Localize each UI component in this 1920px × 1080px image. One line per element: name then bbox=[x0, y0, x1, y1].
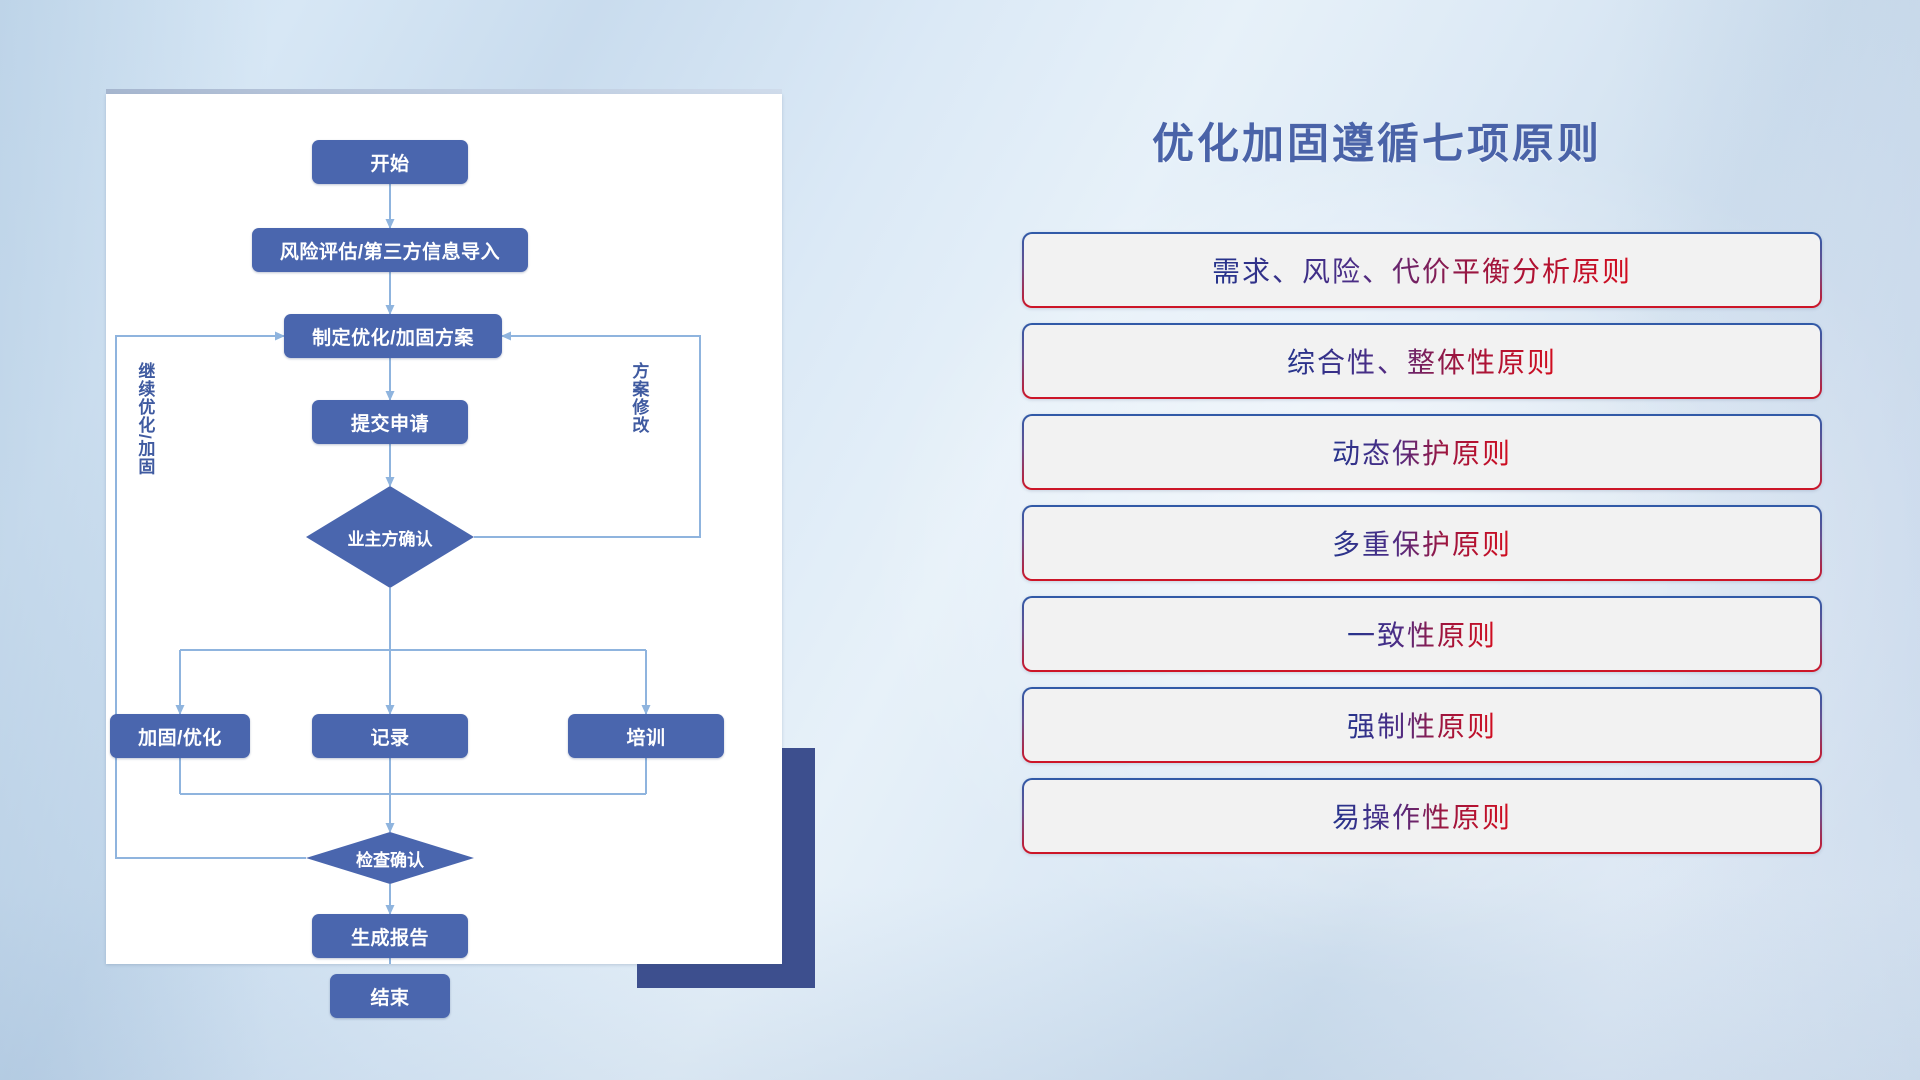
principles-list: 需求、风险、代价平衡分析原则 综合性、整体性原则 动态保护原则 多重保护原则 一… bbox=[1022, 232, 1822, 869]
principle-label: 需求、风险、代价平衡分析原则 bbox=[1212, 250, 1632, 290]
principle-card-inner: 多重保护原则 bbox=[1024, 507, 1820, 579]
flow-node-owner-confirm-label: 业主方确认 bbox=[348, 525, 433, 550]
principle-card-1[interactable]: 需求、风险、代价平衡分析原则 bbox=[1022, 232, 1822, 308]
principle-label: 强制性原则 bbox=[1347, 705, 1497, 745]
principle-card-7[interactable]: 易操作性原则 bbox=[1022, 778, 1822, 854]
flowchart-panel: 开始 风险评估/第三方信息导入 制定优化/加固方案 提交申请 业主方确认 加固/… bbox=[106, 94, 782, 964]
principle-card-inner: 动态保护原则 bbox=[1024, 416, 1820, 488]
principle-card-6[interactable]: 强制性原则 bbox=[1022, 687, 1822, 763]
flow-node-check-confirm[interactable]: 检查确认 bbox=[306, 832, 474, 884]
principle-card-5[interactable]: 一致性原则 bbox=[1022, 596, 1822, 672]
flow-node-check-confirm-label: 检查确认 bbox=[356, 846, 424, 871]
principle-label: 易操作性原则 bbox=[1332, 796, 1512, 836]
principle-card-4[interactable]: 多重保护原则 bbox=[1022, 505, 1822, 581]
principle-card-inner: 需求、风险、代价平衡分析原则 bbox=[1024, 234, 1820, 306]
page-title: 优化加固遵循七项原则 bbox=[1152, 110, 1602, 171]
principle-label: 一致性原则 bbox=[1347, 614, 1497, 654]
principle-card-inner: 一致性原则 bbox=[1024, 598, 1820, 670]
flow-node-risk-assessment[interactable]: 风险评估/第三方信息导入 bbox=[252, 228, 528, 272]
principle-card-2[interactable]: 综合性、整体性原则 bbox=[1022, 323, 1822, 399]
principle-card-inner: 强制性原则 bbox=[1024, 689, 1820, 761]
principle-card-inner: 综合性、整体性原则 bbox=[1024, 325, 1820, 397]
principle-label: 多重保护原则 bbox=[1332, 523, 1512, 563]
principle-card-3[interactable]: 动态保护原则 bbox=[1022, 414, 1822, 490]
flow-node-owner-confirm[interactable]: 业主方确认 bbox=[306, 486, 474, 588]
flow-node-training[interactable]: 培训 bbox=[568, 714, 724, 758]
flow-edge-label-plan-revision: 方案修改 bbox=[630, 362, 647, 502]
flow-node-make-plan[interactable]: 制定优化/加固方案 bbox=[284, 314, 502, 358]
flow-node-generate-report[interactable]: 生成报告 bbox=[312, 914, 468, 958]
principle-label: 动态保护原则 bbox=[1332, 432, 1512, 472]
flow-node-record[interactable]: 记录 bbox=[312, 714, 468, 758]
flow-edge-label-continue-optimize: 继续优化/加固 bbox=[136, 362, 153, 542]
slide-canvas: 开始 风险评估/第三方信息导入 制定优化/加固方案 提交申请 业主方确认 加固/… bbox=[0, 0, 1920, 1080]
principle-label: 综合性、整体性原则 bbox=[1287, 341, 1557, 381]
flow-node-submit-application[interactable]: 提交申请 bbox=[312, 400, 468, 444]
flow-node-end[interactable]: 结束 bbox=[330, 974, 450, 1018]
flow-node-reinforce-optimize[interactable]: 加固/优化 bbox=[110, 714, 250, 758]
principle-card-inner: 易操作性原则 bbox=[1024, 780, 1820, 852]
flow-node-start[interactable]: 开始 bbox=[312, 140, 468, 184]
